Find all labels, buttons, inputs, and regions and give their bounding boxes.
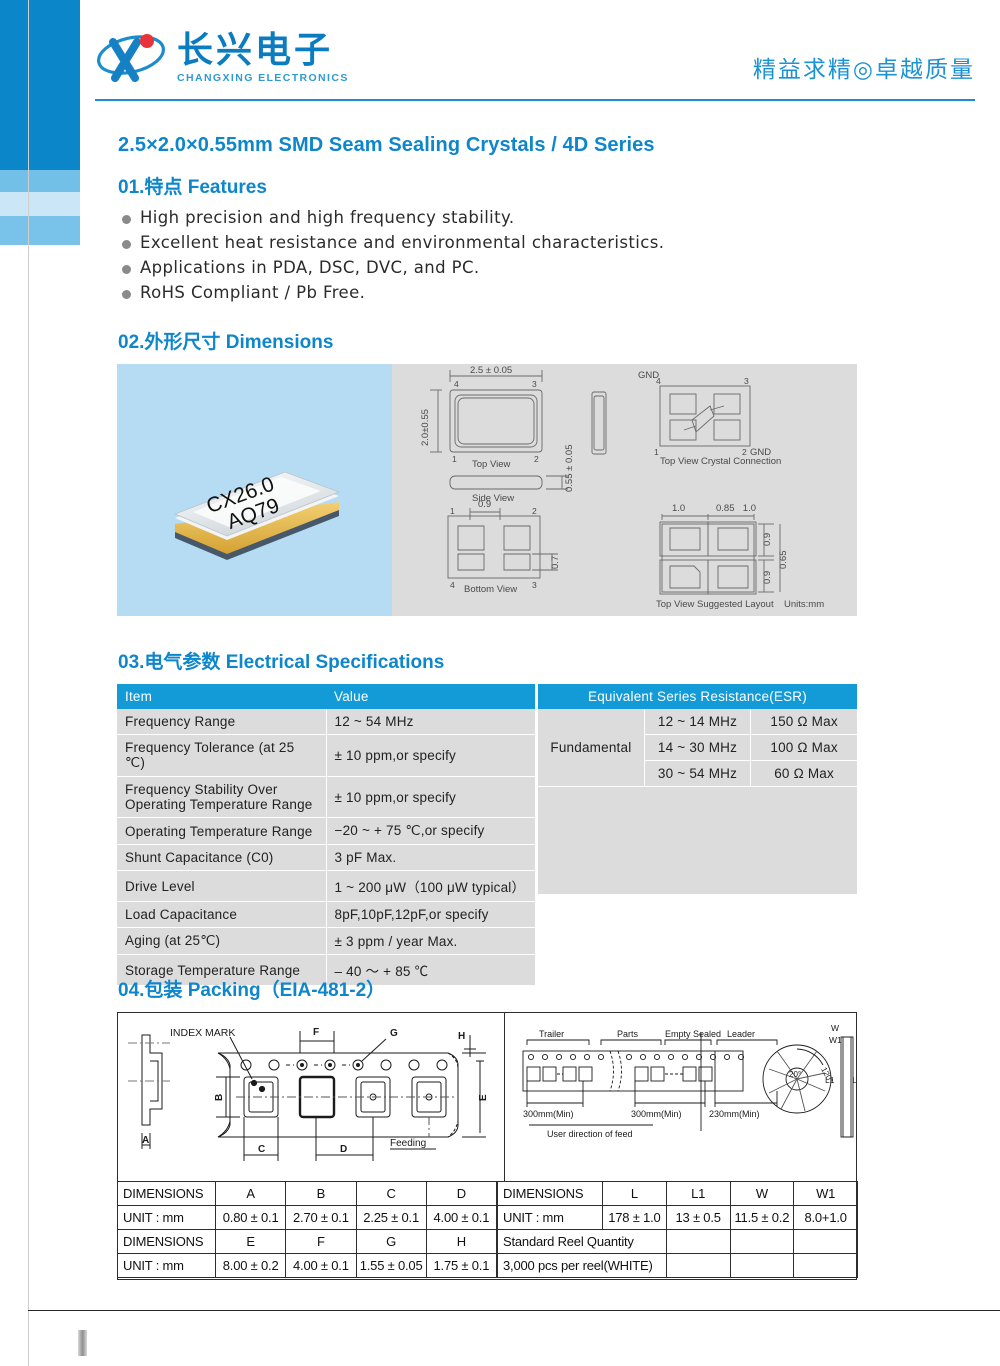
feature-text: High precision and high frequency stabil… — [140, 208, 515, 227]
section-title-cn: 外形尺寸 — [144, 331, 220, 353]
cell-esr-value: 60 Ω Max — [751, 761, 857, 787]
col-header-esr: Equivalent Series Resistance(ESR) — [538, 684, 857, 709]
cell: 8.0+1.0 — [794, 1206, 858, 1230]
header-tagline: 精益求精◎卓越质量 — [753, 50, 975, 84]
top-view-label: Top View — [472, 459, 511, 470]
pin-3-top: 3 — [532, 379, 537, 389]
bullet-icon — [122, 290, 131, 299]
table-row: Standard Reel Quantity — [498, 1230, 858, 1254]
table-header-row: Equivalent Series Resistance(ESR) — [538, 684, 857, 709]
empty-sealed-label: Empty Sealed — [665, 1029, 721, 1039]
layout-pad-h1: 0.9 — [762, 533, 773, 546]
cell-freq-range: 14 ~ 30 MHz — [644, 735, 750, 761]
cell: 11.5 ± 0.2 — [730, 1206, 794, 1230]
pin-2-bottom: 2 — [532, 506, 537, 516]
cell-value: −20 ~ + 75 ℃,or specify — [326, 818, 535, 845]
dim-letter-G: G — [390, 1028, 398, 1039]
table-row: UNIT : mm 0.80 ± 0.1 2.70 ± 0.1 2.25 ± 0… — [118, 1206, 497, 1230]
cell-item: Load Capacitance — [117, 902, 326, 928]
logo-cx-icon — [95, 28, 171, 88]
table-row: Fundamental 12 ~ 14 MHz 150 Ω Max — [538, 709, 857, 735]
cell-freq-range: 12 ~ 14 MHz — [644, 709, 750, 735]
cell — [730, 1230, 794, 1254]
cell-value: ± 10 ppm,or specify — [326, 777, 535, 818]
feed-direction-note: User direction of feed — [547, 1129, 633, 1139]
feature-text: Applications in PDA, DSC, DVC, and PC. — [140, 258, 480, 277]
row-label: UNIT : mm — [498, 1206, 603, 1230]
feature-item: High precision and high frequency stabil… — [122, 208, 822, 233]
cell-value: 12 ~ 54 MHz — [326, 709, 535, 735]
table-row: Aging (at 25℃) ± 3 ppm / year Max. — [117, 928, 535, 955]
index-mark-label: INDEX MARK — [170, 1027, 235, 1039]
section-title-en: Features — [188, 177, 267, 198]
cell: 2.25 ± 0.1 — [356, 1206, 426, 1230]
feeding-label: Feeding — [390, 1138, 426, 1149]
layout-gap: 0.65 — [778, 551, 789, 570]
cell: E — [216, 1230, 286, 1254]
section-number: 01. — [118, 177, 144, 198]
cell: W1 — [794, 1182, 858, 1206]
cell: 4.00 ± 0.1 — [426, 1206, 496, 1230]
cell: 13 ± 0.5 — [666, 1206, 730, 1230]
parts-label: Parts — [617, 1029, 639, 1039]
table-row: UNIT : mm 8.00 ± 0.2 4.00 ± 0.1 1.55 ± 0… — [118, 1254, 497, 1278]
row-label: UNIT : mm — [118, 1206, 216, 1230]
pin-4-bottom: 4 — [450, 580, 455, 590]
packing-panel: INDEX MARK F G H B A C D Feeding E — [117, 1012, 857, 1280]
dim-letter-D: D — [340, 1144, 347, 1155]
feature-item: RoHS Compliant / Pb Free. — [122, 283, 822, 308]
cell: A — [216, 1182, 286, 1206]
dim-letter-E: E — [478, 1094, 489, 1101]
section-title-cn: 包装 — [144, 979, 182, 1001]
pin-2-top: 2 — [534, 454, 539, 464]
pin-1-bottom: 1 — [450, 506, 455, 516]
cell-item: Drive Level — [117, 871, 326, 902]
dim-0-9-label: 0.9 — [478, 499, 491, 510]
cell: D — [426, 1182, 496, 1206]
logo-chinese-name: 长兴电子 — [177, 32, 349, 68]
section-heading-features: 01.特点 Features — [118, 172, 267, 199]
cell: 8.00 ± 0.2 — [216, 1254, 286, 1278]
cell: L1 — [666, 1182, 730, 1206]
table-row: Frequency Range 12 ~ 54 MHz — [117, 709, 535, 735]
units-label: Units:mm — [784, 599, 824, 610]
cell-value: 8pF,10pF,12pF,or specify — [326, 902, 535, 928]
left-rail-band-2 — [0, 192, 80, 216]
product-photo: CX26.0 AQ79 — [117, 364, 392, 616]
dim-height-label: 2.0±0.55 — [420, 409, 431, 446]
layout-dim-2: 0.85 — [716, 503, 735, 514]
cell-item: Shunt Capacitance (C0) — [117, 845, 326, 871]
leader-length: 230mm(Min) — [709, 1109, 760, 1119]
cell: H — [426, 1230, 496, 1254]
cell-value: ± 3 ppm / year Max. — [326, 928, 535, 955]
pin-3-conn: 3 — [744, 376, 749, 386]
layout-dim-1: 1.0 — [672, 503, 685, 514]
table-row: DIMENSIONS E F G H — [118, 1230, 497, 1254]
reel-drawing: Trailer Parts Empty Sealed Leader 300mm(… — [505, 1013, 857, 1181]
crystal-connection-label: Top View Crystal Connection — [660, 456, 781, 467]
cell-esr-value: 100 Ω Max — [751, 735, 857, 761]
layout-pad-h2: 0.9 — [762, 571, 773, 584]
cell: C — [356, 1182, 426, 1206]
pin-4-top: 4 — [454, 379, 459, 389]
table-row: UNIT : mm 178 ± 1.0 13 ± 0.5 11.5 ± 0.2 … — [498, 1206, 858, 1230]
cell: 2.70 ± 0.1 — [286, 1206, 356, 1230]
dim-letter-F: F — [313, 1027, 319, 1038]
page-header: 长兴电子 CHANGXING ELECTRONICS 精益求精◎卓越质量 — [95, 28, 975, 106]
section-title-en: Electrical Specifications — [226, 652, 445, 673]
row-label: UNIT : mm — [118, 1254, 216, 1278]
pin-4-conn: 4 — [656, 376, 661, 386]
reel-L-label: L — [852, 1075, 857, 1085]
cell-value: ± 10 ppm,or specify — [326, 735, 535, 777]
cell-blank — [538, 787, 857, 895]
packing-dimensions-table-left: DIMENSIONS A B C D UNIT : mm 0.80 ± 0.1 … — [117, 1181, 497, 1278]
features-list: High precision and high frequency stabil… — [122, 208, 822, 308]
cell: 1.75 ± 0.1 — [426, 1254, 496, 1278]
cell-mode: Fundamental — [538, 709, 644, 787]
cell: G — [356, 1230, 426, 1254]
electrical-spec-table: Item Value Frequency Range 12 ~ 54 MHz F… — [117, 684, 535, 986]
pin-3-bottom: 3 — [532, 580, 537, 590]
dim-letter-C: C — [258, 1144, 265, 1155]
section-number: 02. — [118, 332, 144, 353]
cell — [794, 1254, 858, 1278]
section-heading-dimensions: 02.外形尺寸 Dimensions — [118, 327, 333, 354]
cell: 1.55 ± 0.05 — [356, 1254, 426, 1278]
trailer-label: Trailer — [539, 1029, 564, 1039]
feature-item: Applications in PDA, DSC, DVC, and PC. — [122, 258, 822, 283]
cell: B — [286, 1182, 356, 1206]
trailer-length: 300mm(Min) — [523, 1109, 574, 1119]
pad-0-7-label: 0.7 — [550, 556, 561, 569]
cell-freq-range: 30 ~ 54 MHz — [644, 761, 750, 787]
col-header-value: Value — [326, 684, 535, 709]
cell: F — [286, 1230, 356, 1254]
table-row: DIMENSIONS L L1 W W1 — [498, 1182, 858, 1206]
feature-text: Excellent heat resistance and environmen… — [140, 233, 664, 252]
dimension-drawings: 2.5 ± 0.05 2.0±0.55 4 3 1 2 Top View 0.5… — [392, 364, 857, 616]
electrical-specifications: Item Value Frequency Range 12 ~ 54 MHz F… — [117, 684, 857, 956]
section-title-cn: 特点 — [144, 176, 182, 198]
crystal-package-image: CX26.0 AQ79 — [153, 432, 353, 562]
cell-item: Aging (at 25℃) — [117, 928, 326, 955]
cell: 4.00 ± 0.1 — [286, 1254, 356, 1278]
reel-L1-label: L1 — [825, 1075, 835, 1085]
cell — [666, 1230, 730, 1254]
datasheet-page: 长兴电子 CHANGXING ELECTRONICS 精益求精◎卓越质量 2.5… — [0, 0, 1000, 1366]
row-label: DIMENSIONS — [118, 1182, 216, 1206]
cell: 0.80 ± 0.1 — [216, 1206, 286, 1230]
spine-mark — [78, 1330, 87, 1356]
cell — [666, 1254, 730, 1278]
reel-W1-label: W1 — [829, 1035, 842, 1045]
cell-item: Operating Temperature Range — [117, 818, 326, 845]
cell-item: Frequency Range — [117, 709, 326, 735]
page-title: 2.5×2.0×0.55mm SMD Seam Sealing Crystals… — [118, 134, 655, 157]
section-heading-packing: 04.包装 Packing（EIA-481-2） — [118, 975, 385, 1002]
section-number: 04. — [118, 980, 144, 1001]
table-row-spacer — [538, 787, 857, 895]
page-bottom-edge-line — [28, 1310, 1000, 1311]
cell: L — [603, 1182, 667, 1206]
dimensions-panel: CX26.0 AQ79 — [117, 364, 857, 616]
row-label: DIMENSIONS — [498, 1182, 603, 1206]
cell: 178 ± 1.0 — [603, 1206, 667, 1230]
table-row: Drive Level 1 ~ 200 μW（100 μW typical） — [117, 871, 535, 902]
reel-W-label: W — [831, 1023, 839, 1033]
left-rail-band-3 — [0, 216, 80, 245]
row-label: Standard Reel Quantity — [498, 1230, 667, 1254]
pin-1-conn: 1 — [654, 447, 659, 457]
suggested-layout-label: Top View Suggested Layout — [656, 599, 774, 610]
bullet-icon — [122, 215, 131, 224]
reel-angle-20: 20° — [789, 1070, 801, 1079]
left-rail-band-1 — [0, 170, 80, 192]
dim-width-label: 2.5 ± 0.05 — [470, 365, 512, 376]
header-divider — [95, 99, 975, 101]
cell-item: Frequency Tolerance (at 25 ℃) — [117, 735, 326, 777]
cell-value: 3 pF Max. — [326, 845, 535, 871]
dim-letter-B: B — [214, 1094, 225, 1101]
dim-thickness-label: 0.55 ± 0.05 — [564, 445, 575, 492]
table-row: Frequency Stability Over Operating Tempe… — [117, 777, 535, 818]
cell-value: 1 ~ 200 μW（100 μW typical） — [326, 871, 535, 902]
page-left-edge-line — [28, 0, 29, 1366]
row-label: 3,000 pcs per reel(WHITE) — [498, 1254, 667, 1278]
cell — [730, 1254, 794, 1278]
table-row: Shunt Capacitance (C0) 3 pF Max. — [117, 845, 535, 871]
esr-table: Equivalent Series Resistance(ESR) Fundam… — [538, 684, 857, 895]
section-number: 03. — [118, 652, 144, 673]
cell — [794, 1230, 858, 1254]
cell-esr-value: 150 Ω Max — [751, 709, 857, 735]
section-heading-electrical: 03.电气参数 Electrical Specifications — [118, 647, 444, 674]
bottom-view-label: Bottom View — [464, 584, 517, 595]
cell-item: Frequency Stability Over Operating Tempe… — [117, 777, 326, 818]
layout-dim-3: 1.0 — [743, 503, 756, 514]
bullet-icon — [122, 265, 131, 274]
leader-label: Leader — [727, 1029, 755, 1039]
tape-drawing: INDEX MARK F G H B A C D Feeding E — [118, 1013, 504, 1181]
table-row: DIMENSIONS A B C D — [118, 1182, 497, 1206]
feature-text: RoHS Compliant / Pb Free. — [140, 283, 365, 302]
section-title-en: Dimensions — [226, 332, 334, 353]
dim-letter-A: A — [142, 1135, 149, 1146]
dim-letter-H: H — [458, 1031, 465, 1042]
pin-1-top: 1 — [452, 454, 457, 464]
packing-dimensions-table-right: DIMENSIONS L L1 W W1 UNIT : mm 178 ± 1.0… — [497, 1181, 858, 1278]
table-row: Operating Temperature Range −20 ~ + 75 ℃… — [117, 818, 535, 845]
section-title-en: Packing（EIA-481-2） — [188, 980, 385, 1001]
table-row: Load Capacitance 8pF,10pF,12pF,or specif… — [117, 902, 535, 928]
feature-item: Excellent heat resistance and environmen… — [122, 233, 822, 258]
bullet-icon — [122, 240, 131, 249]
cell: W — [730, 1182, 794, 1206]
company-logo: 长兴电子 CHANGXING ELECTRONICS — [95, 28, 349, 88]
table-header-row: Item Value — [117, 684, 535, 709]
left-rail-dark-block — [0, 0, 80, 170]
table-row: Frequency Tolerance (at 25 ℃) ± 10 ppm,o… — [117, 735, 535, 777]
table-row: 3,000 pcs per reel(WHITE) — [498, 1254, 858, 1278]
sealed-length: 300mm(Min) — [631, 1109, 682, 1119]
logo-english-name: CHANGXING ELECTRONICS — [177, 72, 349, 84]
section-title-cn: 电气参数 — [144, 651, 220, 673]
row-label: DIMENSIONS — [118, 1230, 216, 1254]
col-header-item: Item — [117, 684, 326, 709]
